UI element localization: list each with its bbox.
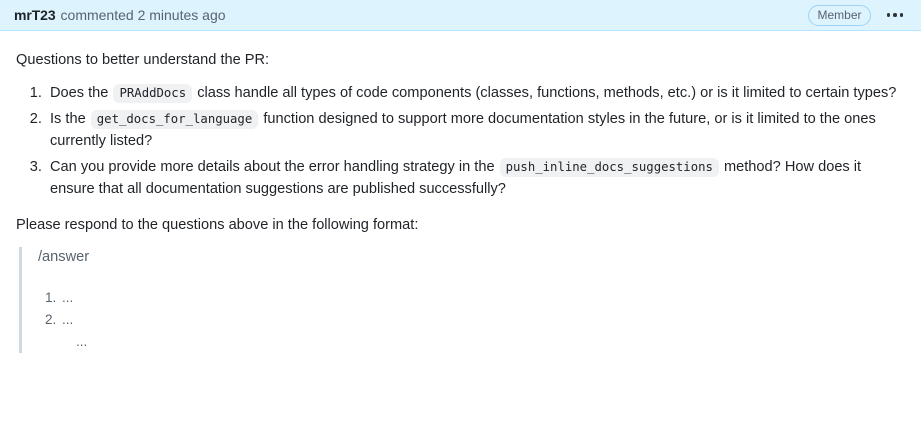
inline-code-span: push_inline_docs_suggestions (500, 158, 719, 177)
status-badge: Member (808, 5, 870, 26)
answer-placeholder-list: ... ... (38, 287, 905, 331)
answer-command: /answer (38, 247, 905, 269)
comment-header: mrT23 commented 2 minutes ago Member (0, 0, 921, 31)
questions-list: Does the PRAddDocs class handle all type… (16, 82, 905, 201)
answer-trailing-ellipsis: ... (76, 331, 905, 353)
list-item: Can you provide more details about the e… (46, 156, 905, 200)
kebab-dot-1 (887, 13, 891, 17)
question-prefix: Is the (50, 111, 86, 127)
comment-header-right: Member (808, 5, 905, 26)
question-prefix: Can you provide more details about the e… (50, 159, 495, 175)
comment-container: mrT23 commented 2 minutes ago Member Que… (0, 0, 921, 426)
list-item: Is the get_docs_for_language function de… (46, 108, 905, 152)
respond-instruction: Please respond to the questions above in… (16, 214, 905, 237)
question-prefix: Does the (50, 85, 108, 101)
intro-paragraph: Questions to better understand the PR: (16, 49, 905, 72)
comment-author[interactable]: mrT23 (14, 7, 56, 23)
list-item: ... (60, 287, 905, 309)
comment-body: Questions to better understand the PR: D… (0, 31, 921, 353)
question-suffix: class handle all types of code component… (197, 85, 896, 101)
kebab-dot-2 (893, 13, 897, 17)
list-item: ... (60, 309, 905, 331)
kebab-horizontal-icon[interactable] (885, 11, 906, 19)
list-item: Does the PRAddDocs class handle all type… (46, 82, 905, 104)
comment-timestamp: commented 2 minutes ago (61, 7, 226, 23)
comment-header-left: mrT23 commented 2 minutes ago (14, 7, 808, 23)
answer-format-blockquote: /answer ... ... ... (19, 247, 905, 352)
inline-code-span: PRAddDocs (113, 84, 192, 103)
inline-code-span: get_docs_for_language (91, 110, 258, 129)
kebab-dot-3 (900, 13, 904, 17)
